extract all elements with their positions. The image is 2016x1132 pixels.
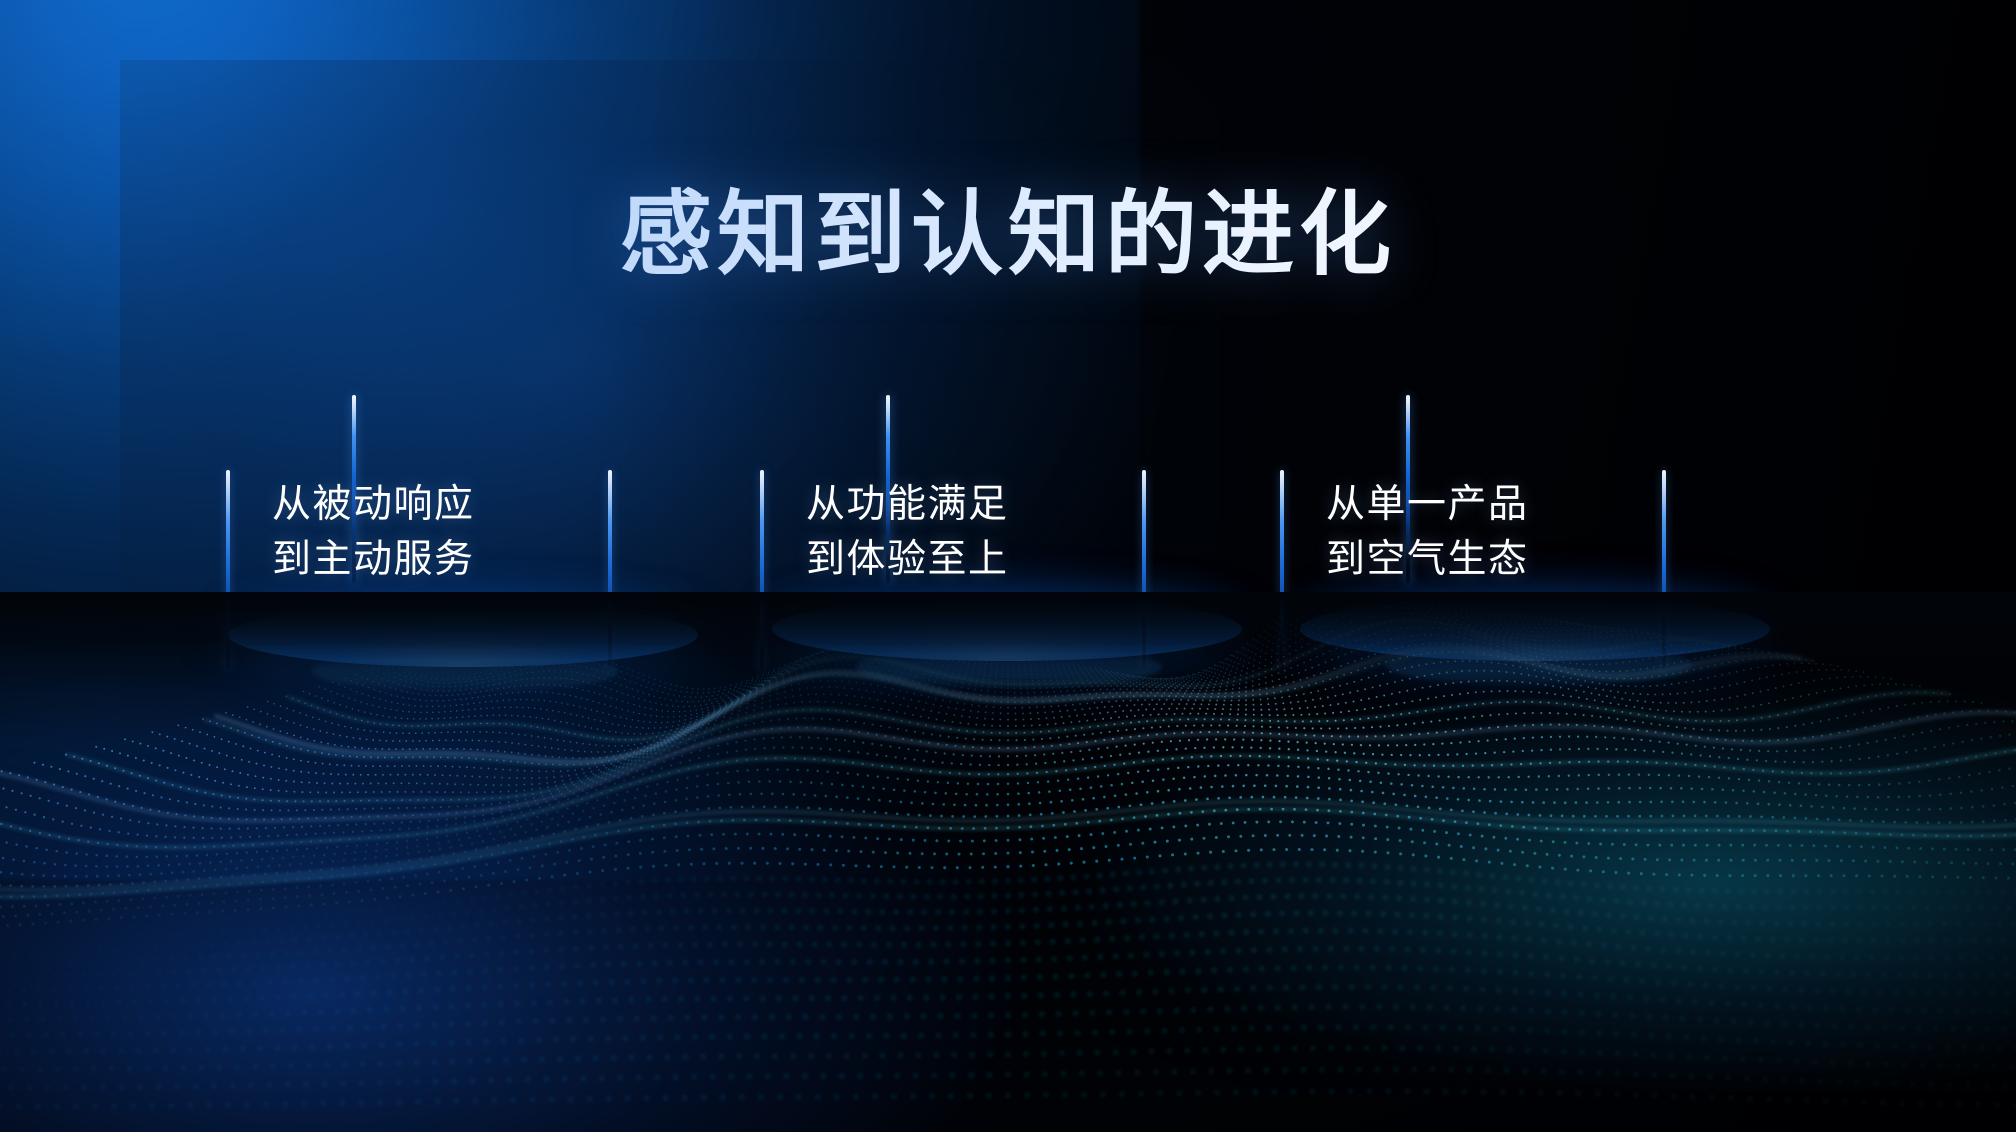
card-line-1: 从单一产品 [1326,483,1529,526]
card-line-2: 到空气生态 [1326,532,1646,587]
card-text: 从功能满足 到体验至上 [806,477,1126,588]
presentation-slide: 感知到认知的进化 从被动响应 到主动服务 从功能满足 到体 [0,0,2016,1132]
card-line-1: 从功能满足 [806,483,1009,526]
card-line-2: 到主动服务 [272,532,592,587]
card-line-2: 到体验至上 [806,532,1126,587]
card-text: 从单一产品 到空气生态 [1326,477,1646,588]
particle-wave-mesh [0,592,2016,1132]
card-line-1: 从被动响应 [272,483,475,526]
wave-canvas [0,592,2016,1132]
card-text: 从被动响应 到主动服务 [272,477,592,588]
